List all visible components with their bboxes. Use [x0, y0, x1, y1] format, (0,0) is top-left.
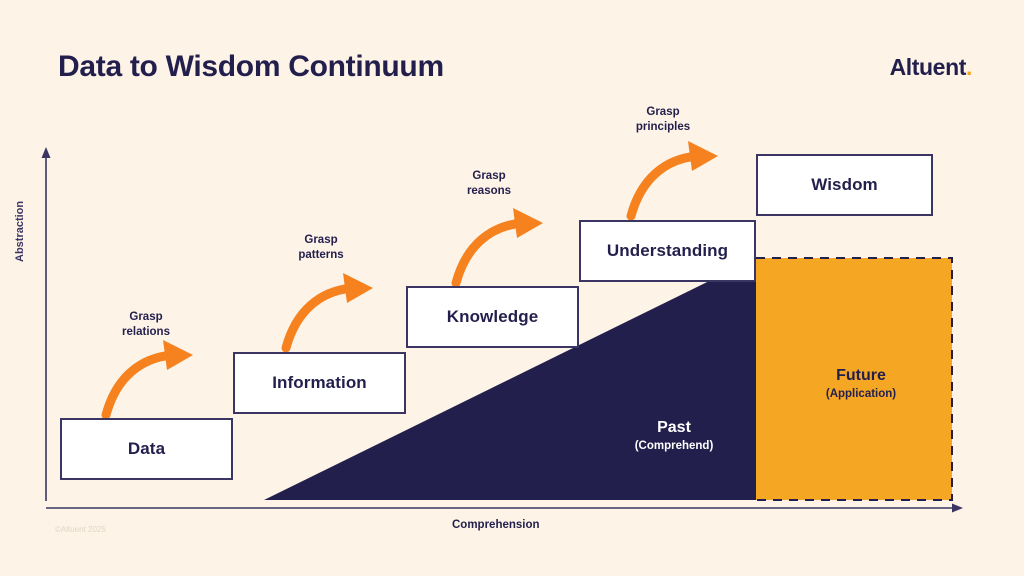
region-name: Future: [787, 366, 935, 387]
step-box-wisdom[interactable]: Wisdom: [756, 154, 933, 216]
region-sub: (Comprehend): [600, 439, 748, 454]
transition-label-line1: Grasp: [129, 311, 162, 323]
transition-arrow-2: [286, 273, 373, 348]
transition-label-line1: Grasp: [646, 106, 679, 118]
y-axis-label: Abstraction: [14, 201, 26, 262]
transition-label-line2: reasons: [467, 185, 511, 197]
transition-label-relations: Grasp relations: [100, 310, 192, 339]
transition-label-line1: Grasp: [472, 170, 505, 182]
transition-label-line1: Grasp: [304, 234, 337, 246]
transition-label-line2: patterns: [298, 249, 343, 261]
transition-arrow-4: [631, 141, 718, 216]
transition-label-line2: principles: [636, 121, 690, 133]
slide-canvas: Data to Wisdom Continuum Altuent.: [0, 0, 1024, 576]
step-label: Wisdom: [811, 175, 878, 195]
step-label: Data: [128, 439, 165, 459]
step-box-information[interactable]: Information: [233, 352, 406, 414]
transition-label-reasons: Grasp reasons: [443, 169, 535, 198]
region-label-past: Past (Comprehend): [600, 418, 748, 454]
step-box-knowledge[interactable]: Knowledge: [406, 286, 579, 348]
copyright-footer: ©Altuent 2025: [55, 525, 106, 534]
step-box-data[interactable]: Data: [60, 418, 233, 480]
step-label: Understanding: [607, 241, 728, 261]
transition-arrow-1: [106, 340, 193, 415]
step-box-understanding[interactable]: Understanding: [579, 220, 756, 282]
region-name: Past: [600, 418, 748, 439]
y-axis-arrowhead: [42, 147, 51, 158]
region-sub: (Application): [787, 387, 935, 402]
transition-label-line2: relations: [122, 326, 170, 338]
x-axis-arrowhead: [952, 504, 963, 513]
step-label: Knowledge: [447, 307, 539, 327]
transition-label-principles: Grasp principles: [617, 105, 709, 134]
transition-arrow-3: [456, 208, 543, 283]
transition-label-patterns: Grasp patterns: [275, 233, 367, 262]
x-axis-label: Comprehension: [452, 519, 540, 531]
region-label-future: Future (Application): [787, 366, 935, 402]
step-label: Information: [272, 373, 367, 393]
